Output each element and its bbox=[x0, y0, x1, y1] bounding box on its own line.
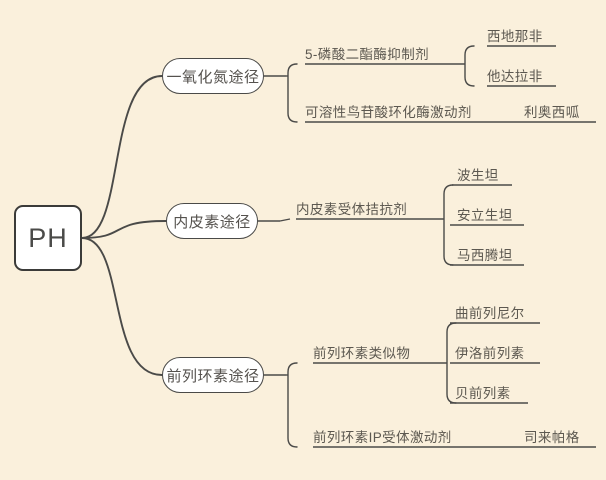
class-node-prostacyclin-ip-receptor-agonist[interactable]: 前列环素IP受体激动剂 bbox=[313, 427, 461, 447]
drug-node-ambrisentan[interactable]: 安立生坦 bbox=[457, 205, 519, 225]
drug-node-selexipag[interactable]: 司来帕格 bbox=[524, 427, 586, 447]
class-node-endothelin-receptor-antagonist[interactable]: 内皮素受体拮抗剂 bbox=[296, 199, 422, 219]
class-node-prostacyclin-analogue[interactable]: 前列环素类似物 bbox=[313, 343, 425, 363]
class-node-pde5-inhibitor[interactable]: 5-磷酸二酯酶抑制剂 bbox=[305, 44, 443, 64]
drug-node-tadalafil[interactable]: 他达拉非 bbox=[487, 66, 549, 86]
drug-node-iloprost[interactable]: 伊洛前列素 bbox=[455, 343, 529, 363]
mind-map-canvas: PH 一氧化氮途径 内皮素途径 前列环素途径 5-磷酸二酯酶抑制剂 可溶性鸟苷酸… bbox=[0, 0, 606, 480]
drug-node-sildenafil[interactable]: 西地那非 bbox=[487, 26, 549, 46]
branch-node-endothelin-pathway[interactable]: 内皮素途径 bbox=[166, 203, 258, 239]
root-node-ph[interactable]: PH bbox=[14, 205, 82, 271]
branch-node-prostacyclin-pathway[interactable]: 前列环素途径 bbox=[162, 357, 264, 393]
drug-node-treprostinil[interactable]: 曲前列尼尔 bbox=[455, 303, 529, 323]
drug-node-beraprost[interactable]: 贝前列素 bbox=[455, 383, 517, 403]
branch-node-nitric-oxide-pathway[interactable]: 一氧化氮途径 bbox=[162, 58, 264, 94]
drug-node-riociguat[interactable]: 利奥西呱 bbox=[524, 102, 586, 122]
drug-node-macitentan[interactable]: 马西腾坦 bbox=[457, 245, 519, 265]
class-node-sgc-stimulator[interactable]: 可溶性鸟苷酸环化酶激动剂 bbox=[305, 102, 485, 122]
drug-node-bosentan[interactable]: 波生坦 bbox=[457, 165, 507, 185]
